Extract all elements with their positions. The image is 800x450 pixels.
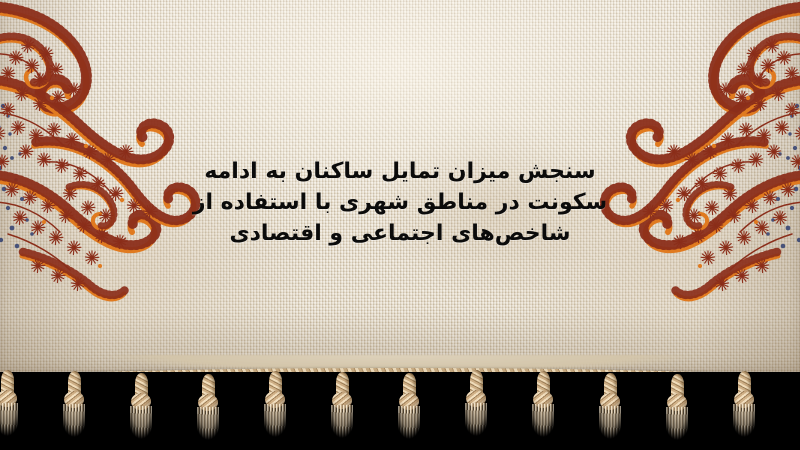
tassel [262, 371, 288, 445]
tassel [530, 371, 556, 445]
tassel-skirt [0, 403, 18, 441]
tassel-skirt [666, 407, 688, 445]
tassel [195, 374, 221, 448]
tassel [731, 371, 757, 445]
tassel [329, 372, 355, 446]
tassel [0, 370, 20, 444]
tassel-skirt [465, 403, 487, 441]
tassel-skirt [197, 407, 219, 445]
tassel-skirt [63, 404, 85, 442]
tassel-skirt [398, 406, 420, 444]
tassel-skirt [599, 406, 621, 444]
title-line-3: شاخص‌های اجتماعی و اقتصادی [180, 218, 620, 249]
tassel-skirt [733, 404, 755, 442]
tassel-skirt [331, 405, 353, 443]
tassel [664, 374, 690, 448]
page-title: سنجش میزان تمایل ساکنان به ادامه سکونت د… [180, 156, 620, 249]
tassel [597, 373, 623, 447]
tassel [128, 373, 154, 447]
title-line-1: سنجش میزان تمایل ساکنان به ادامه [180, 156, 620, 187]
title-slide: سنجش میزان تمایل ساکنان به ادامه سکونت د… [0, 0, 800, 450]
tassel-fringe [0, 372, 800, 450]
tassel-skirt [532, 404, 554, 442]
tassel [61, 371, 87, 445]
title-line-2: سکونت در مناطق شهری با استفاده از [180, 187, 620, 218]
tassel [463, 370, 489, 444]
tassel [396, 373, 422, 447]
tassel-skirt [264, 404, 286, 442]
tassel-skirt [130, 406, 152, 444]
